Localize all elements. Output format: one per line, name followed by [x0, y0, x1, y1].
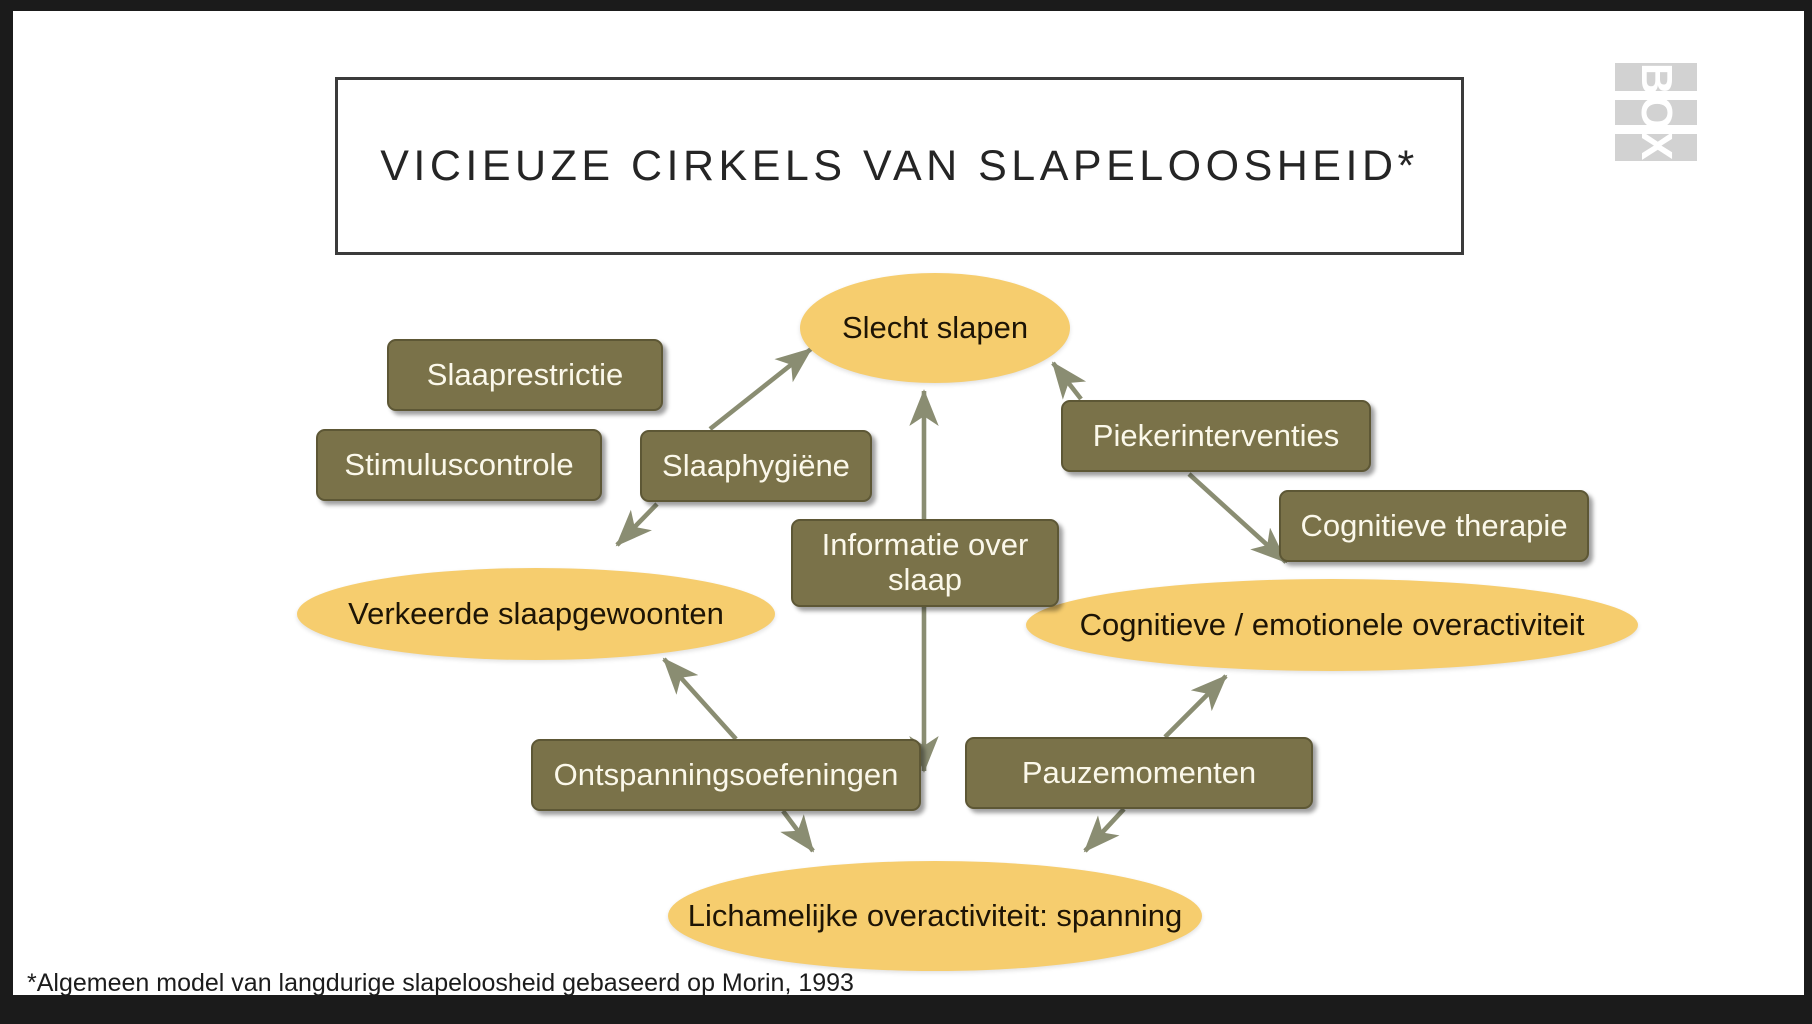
node-label: Cognitieve / emotionele overactiviteit — [1080, 607, 1585, 644]
node-label: Informatie over slaap — [803, 528, 1047, 597]
node-label: Cognitieve therapie — [1300, 509, 1567, 544]
node-label: Ontspanningsoefeningen — [554, 758, 899, 793]
node-slaaprestrictie[interactable]: Slaaprestrictie — [387, 339, 663, 411]
node-piekerinterventies[interactable]: Piekerinterventies — [1061, 400, 1371, 472]
arrow-piekerinterventies-to-cognitieve-therapie — [1189, 474, 1286, 562]
arrow-ontspanningsoefeningen-to-lichamelijke-overactiviteit — [783, 811, 813, 851]
node-slecht-slapen[interactable]: Slecht slapen — [800, 273, 1070, 383]
node-label: Pauzemomenten — [1022, 756, 1256, 791]
node-ontspanningsoefeningen[interactable]: Ontspanningsoefeningen — [531, 739, 921, 811]
page-title: VICIEUZE CIRKELS VAN SLAPELOOSHEID* — [338, 80, 1461, 252]
node-label: Slaaprestrictie — [427, 358, 623, 393]
node-label: Lichamelijke overactiviteit: spanning — [688, 898, 1183, 935]
box-logo: BOX — [1615, 63, 1697, 161]
arrow-ontspanningsoefeningen-to-verkeerde-slaapgewoonten — [664, 659, 736, 739]
node-cognitieve-therapie[interactable]: Cognitieve therapie — [1279, 490, 1589, 562]
logo-text: BOX — [1634, 63, 1678, 161]
node-verkeerde-slaapgewoonten[interactable]: Verkeerde slaapgewoonten — [297, 568, 775, 660]
arrow-slaaphygiene-to-slecht-slapen — [710, 349, 811, 429]
node-informatie-over-slaap[interactable]: Informatie over slaap — [791, 519, 1059, 607]
node-label: Slecht slapen — [842, 310, 1028, 347]
node-pauzemomenten[interactable]: Pauzemomenten — [965, 737, 1313, 809]
slide-footnote: *Algemeen model van langdurige slapeloos… — [27, 969, 854, 995]
slide-screen: VICIEUZE CIRKELS VAN SLAPELOOSHEID* BOX — [0, 0, 1812, 1024]
node-label: Slaaphygiëne — [662, 449, 850, 484]
slide-canvas: VICIEUZE CIRKELS VAN SLAPELOOSHEID* BOX — [13, 11, 1804, 995]
arrow-slaaphygiene-to-verkeerde-slaapgewoonten — [617, 504, 657, 545]
arrow-pauzemomenten-to-cognitieve-emotionele-overactiviteit — [1165, 676, 1226, 737]
arrow-pauzemomenten-to-lichamelijke-overactiviteit — [1085, 809, 1124, 851]
node-cognitieve-emotionele-overactiviteit[interactable]: Cognitieve / emotionele overactiviteit — [1026, 579, 1638, 671]
node-label: Verkeerde slaapgewoonten — [348, 596, 724, 633]
arrow-piekerinterventies-to-slecht-slapen — [1053, 363, 1081, 399]
node-stimuluscontrole[interactable]: Stimuluscontrole — [316, 429, 602, 501]
node-slaaphygiene[interactable]: Slaaphygiëne — [640, 430, 872, 502]
node-label: Piekerinterventies — [1093, 419, 1339, 454]
slide-title-box: VICIEUZE CIRKELS VAN SLAPELOOSHEID* — [335, 77, 1464, 255]
node-lichamelijke-overactiviteit[interactable]: Lichamelijke overactiviteit: spanning — [668, 861, 1202, 971]
node-label: Stimuluscontrole — [344, 448, 573, 483]
